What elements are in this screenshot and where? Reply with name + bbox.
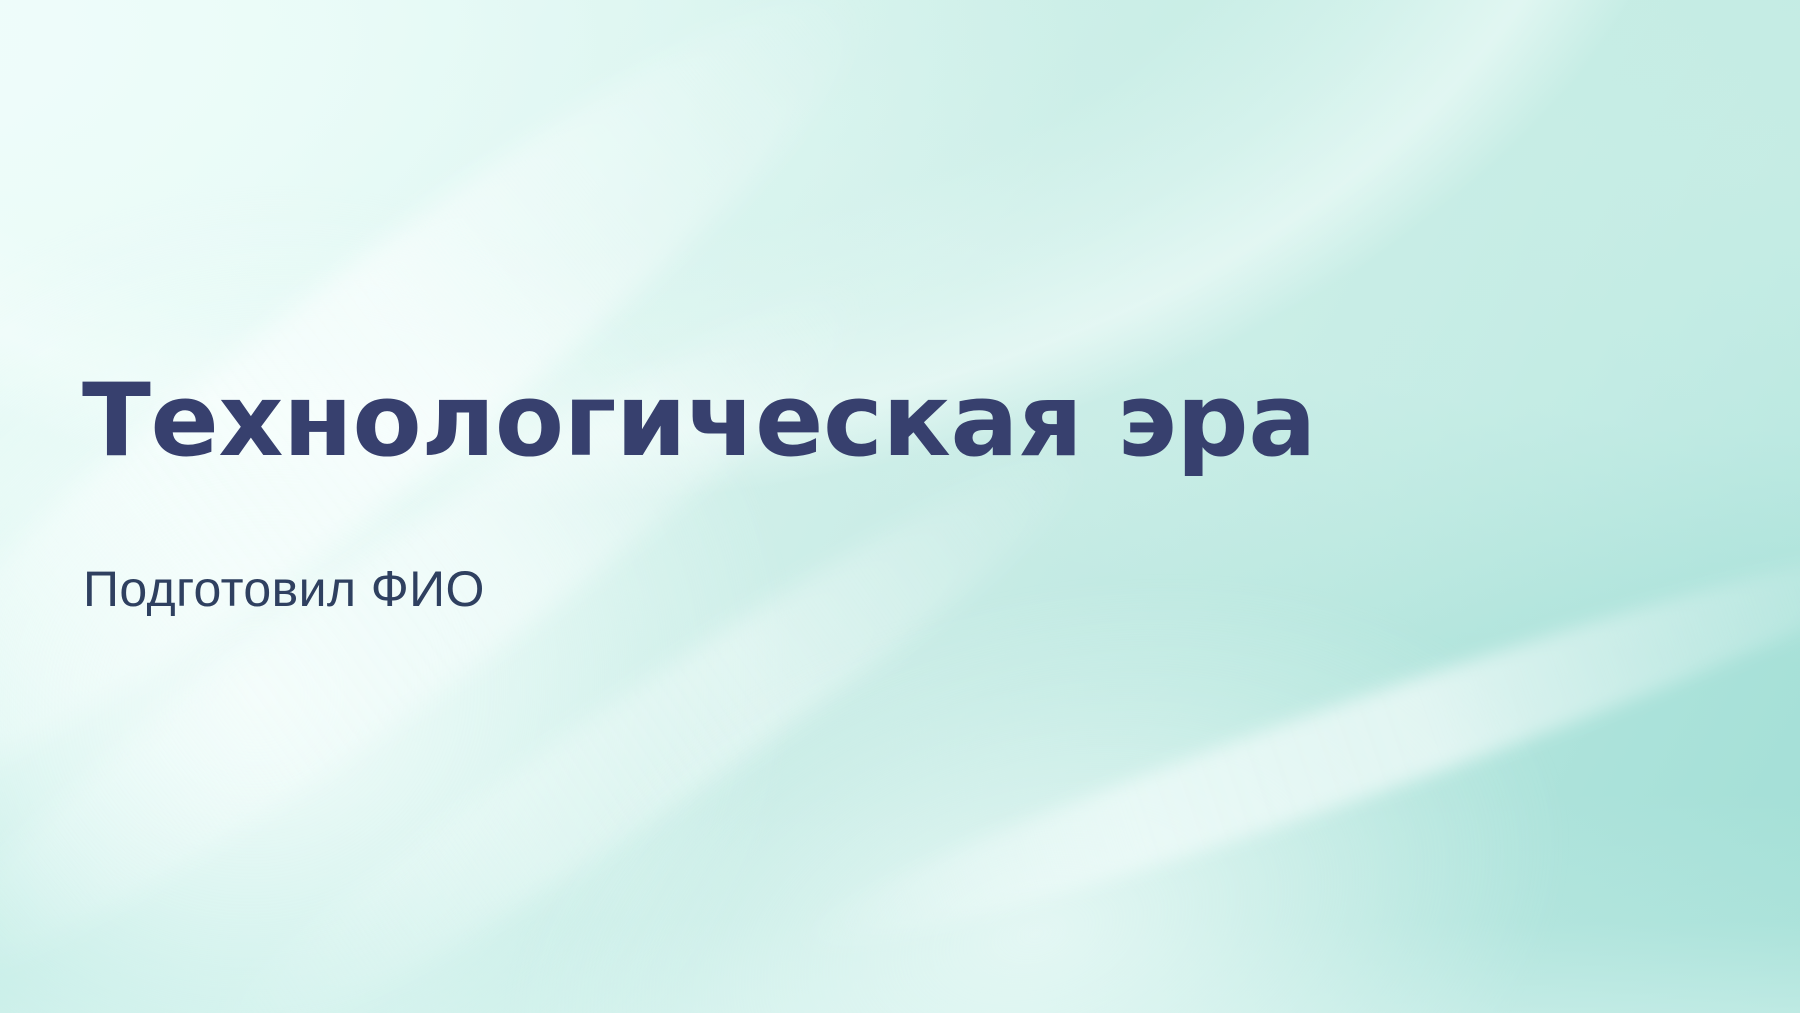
slide-subtitle: Подготовил ФИО: [83, 562, 485, 617]
slide-title: Технологическая эра: [82, 368, 1316, 473]
title-slide: Технологическая эра Подготовил ФИО: [0, 0, 1800, 1013]
title-block: Технологическая эра Подготовил ФИО: [82, 0, 1582, 1013]
